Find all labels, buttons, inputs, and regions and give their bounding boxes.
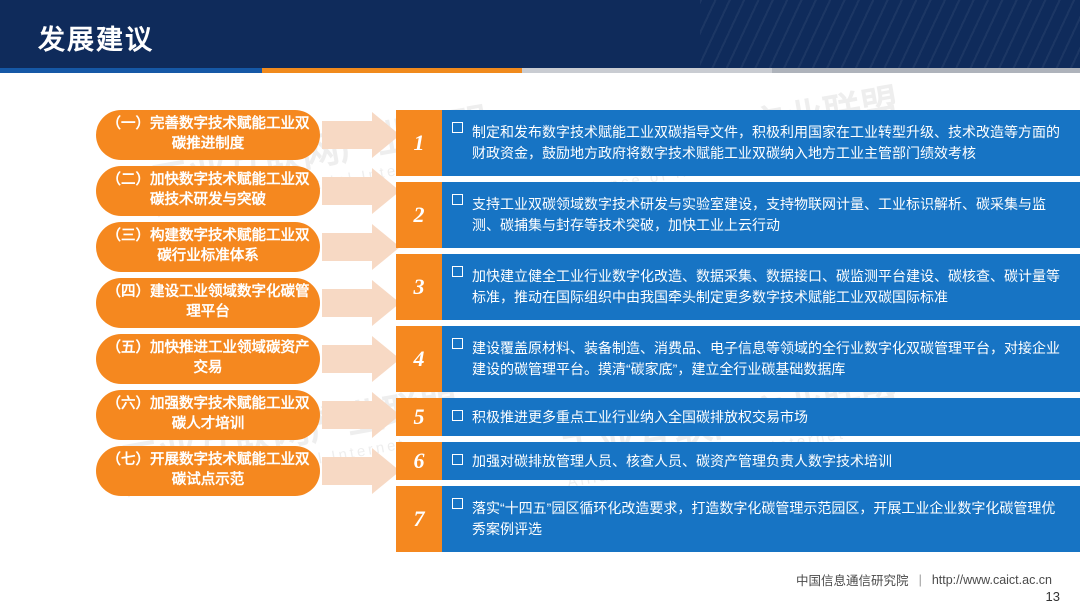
badge-number-1: 1: [396, 110, 442, 176]
table-row: 4 建设覆盖原材料、装备制造、消费品、电子信息等领域的全行业数字化双碳管理平台，…: [396, 326, 1080, 392]
badge-number-5: 5: [396, 398, 442, 436]
detail-bar-5: 积极推进更多重点工业行业纳入全国碳排放权交易市场: [442, 398, 1080, 436]
badge-number-2: 2: [396, 182, 442, 248]
footer-divider: |: [919, 573, 922, 587]
bullet-square-icon: [452, 410, 463, 421]
table-row: 3 加快建立健全工业行业数字化改造、数据采集、数据接口、碳监测平台建设、碳核查、…: [396, 254, 1080, 320]
detail-text-4: 建设覆盖原材料、装备制造、消费品、电子信息等领域的全行业数字化双碳管理平台，对接…: [472, 338, 1066, 380]
recommendation-detail-list: 1 制定和发布数字技术赋能工业双碳指导文件，积极利用国家在工业转型升级、技术改造…: [396, 110, 1080, 558]
pill-label-7[interactable]: （七）开展数字技术赋能工业双碳试点示范: [96, 446, 320, 496]
bullet-square-icon: [452, 266, 463, 277]
badge-number-3: 3: [396, 254, 442, 320]
detail-bar-7: 落实“十四五”园区循环化改造要求，打造数字化碳管理示范园区，开展工业企业数字化碳…: [442, 486, 1080, 552]
pill-label-4[interactable]: （四）建设工业领域数字化碳管理平台: [96, 278, 320, 328]
arrow-icon: [322, 392, 400, 438]
table-row: 5 积极推进更多重点工业行业纳入全国碳排放权交易市场: [396, 398, 1080, 436]
accent-bar-blue: [0, 68, 262, 73]
list-item: （七）开展数字技术赋能工业双碳试点示范: [0, 446, 400, 496]
footer-credits: 中国信息通信研究院 | http://www.caict.ac.cn: [796, 570, 1052, 589]
detail-bar-6: 加强对碳排放管理人员、核查人员、碳资产管理负责人数字技术培训: [442, 442, 1080, 480]
bullet-square-icon: [452, 338, 463, 349]
bullet-square-icon: [452, 454, 463, 465]
footer-url[interactable]: http://www.caict.ac.cn: [932, 573, 1052, 587]
detail-bar-4: 建设覆盖原材料、装备制造、消费品、电子信息等领域的全行业数字化双碳管理平台，对接…: [442, 326, 1080, 392]
list-item: （二）加快数字技术赋能工业双碳技术研发与突破: [0, 166, 400, 216]
badge-number-6: 6: [396, 442, 442, 480]
detail-text-3: 加快建立健全工业行业数字化改造、数据采集、数据接口、碳监测平台建设、碳核查、碳计…: [472, 266, 1066, 308]
arrow-icon: [322, 336, 400, 382]
header-diagonal-pattern: [700, 0, 1080, 68]
accent-bar-orange: [262, 68, 522, 73]
arrow-icon: [322, 112, 400, 158]
table-row: 7 落实“十四五”园区循环化改造要求，打造数字化碳管理示范园区，开展工业企业数字…: [396, 486, 1080, 552]
bullet-square-icon: [452, 122, 463, 133]
pill-label-3[interactable]: （三）构建数字技术赋能工业双碳行业标准体系: [96, 222, 320, 272]
pill-label-1[interactable]: （一）完善数字技术赋能工业双碳推进制度: [96, 110, 320, 160]
table-row: 6 加强对碳排放管理人员、核查人员、碳资产管理负责人数字技术培训: [396, 442, 1080, 480]
bullet-square-icon: [452, 194, 463, 205]
detail-text-1: 制定和发布数字技术赋能工业双碳指导文件，积极利用国家在工业转型升级、技术改造等方…: [472, 122, 1066, 164]
pill-label-5[interactable]: （五）加快推进工业领域碳资产交易: [96, 334, 320, 384]
pill-label-6[interactable]: （六）加强数字技术赋能工业双碳人才培训: [96, 390, 320, 440]
badge-number-4: 4: [396, 326, 442, 392]
slide-header: 发展建议: [0, 0, 1080, 68]
pill-label-2[interactable]: （二）加快数字技术赋能工业双碳技术研发与突破: [96, 166, 320, 216]
list-item: （六）加强数字技术赋能工业双碳人才培训: [0, 390, 400, 440]
arrow-icon: [322, 280, 400, 326]
detail-bar-2: 支持工业双碳领域数字技术研发与实验室建设，支持物联网计量、工业标识解析、碳采集与…: [442, 182, 1080, 248]
detail-bar-1: 制定和发布数字技术赋能工业双碳指导文件，积极利用国家在工业转型升级、技术改造等方…: [442, 110, 1080, 176]
accent-bar-grey-2: [772, 68, 1080, 73]
arrow-icon: [322, 168, 400, 214]
arrow-icon: [322, 448, 400, 494]
bullet-square-icon: [452, 498, 463, 509]
footer-org: 中国信息通信研究院: [796, 570, 909, 589]
table-row: 2 支持工业双碳领域数字技术研发与实验室建设，支持物联网计量、工业标识解析、碳采…: [396, 182, 1080, 248]
badge-number-7: 7: [396, 486, 442, 552]
detail-bar-3: 加快建立健全工业行业数字化改造、数据采集、数据接口、碳监测平台建设、碳核查、碳计…: [442, 254, 1080, 320]
accent-bar-grey-1: [522, 68, 772, 73]
list-item: （一）完善数字技术赋能工业双碳推进制度: [0, 110, 400, 160]
arrow-icon: [322, 224, 400, 270]
detail-text-6: 加强对碳排放管理人员、核查人员、碳资产管理负责人数字技术培训: [472, 451, 892, 472]
detail-text-7: 落实“十四五”园区循环化改造要求，打造数字化碳管理示范园区，开展工业企业数字化碳…: [472, 498, 1066, 540]
page-title: 发展建议: [38, 18, 154, 57]
recommendation-pill-list: （一）完善数字技术赋能工业双碳推进制度 （二）加快数字技术赋能工业双碳技术研发与…: [0, 110, 400, 502]
list-item: （五）加快推进工业领域碳资产交易: [0, 334, 400, 384]
page-number: 13: [1046, 589, 1060, 604]
detail-text-5: 积极推进更多重点工业行业纳入全国碳排放权交易市场: [472, 407, 808, 428]
table-row: 1 制定和发布数字技术赋能工业双碳指导文件，积极利用国家在工业转型升级、技术改造…: [396, 110, 1080, 176]
detail-text-2: 支持工业双碳领域数字技术研发与实验室建设，支持物联网计量、工业标识解析、碳采集与…: [472, 194, 1066, 236]
list-item: （三）构建数字技术赋能工业双碳行业标准体系: [0, 222, 400, 272]
list-item: （四）建设工业领域数字化碳管理平台: [0, 278, 400, 328]
slide-footer: 中国信息通信研究院 | http://www.caict.ac.cn 13: [0, 562, 1080, 608]
